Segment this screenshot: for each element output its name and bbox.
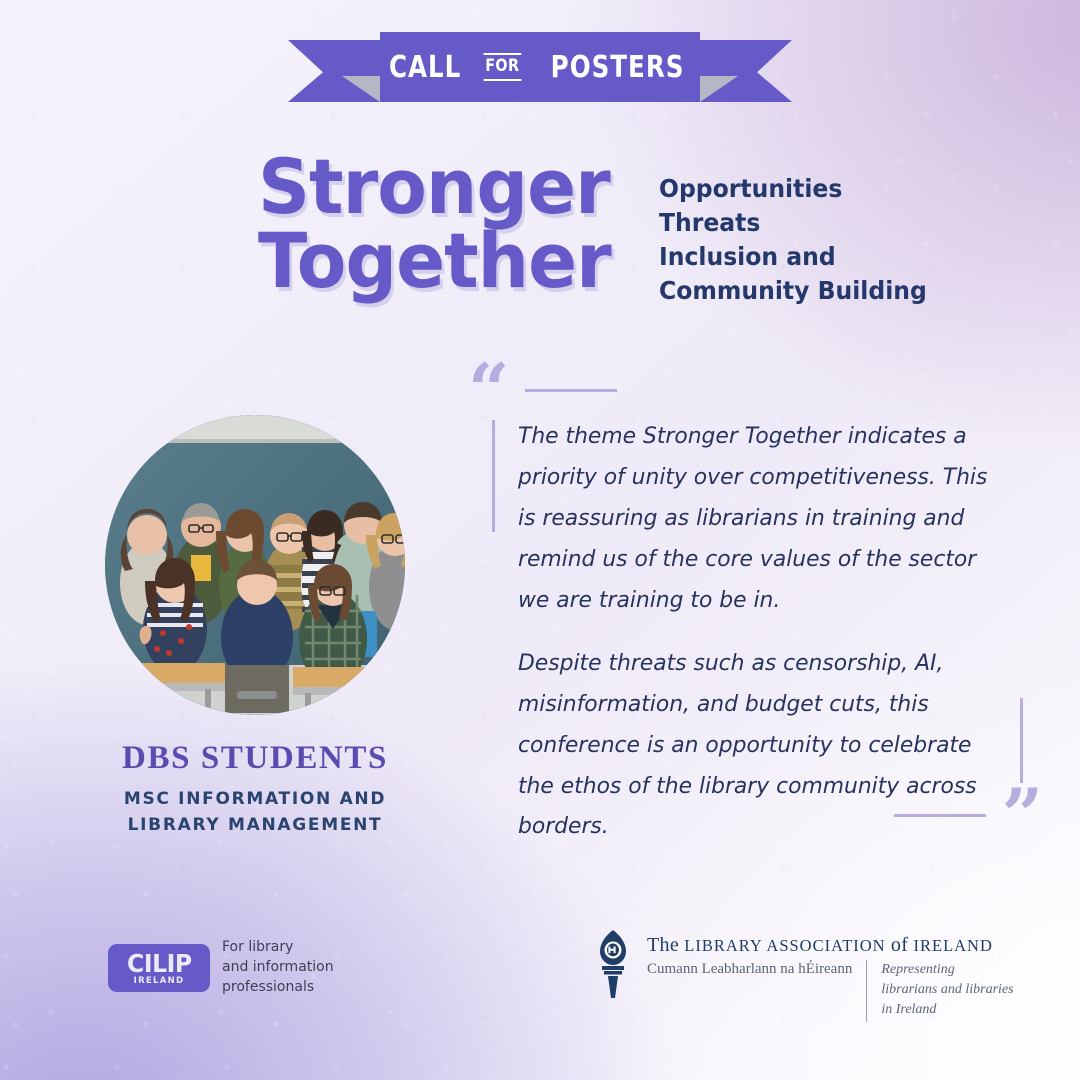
lai-subtitle-row: Cumann Leabharlann na hÉireann Represent…: [647, 960, 1014, 1022]
ribbon-word-call: CALL: [389, 50, 461, 85]
ribbon-tail-right: [700, 40, 792, 102]
cilip-badge: CILIP IRELAND: [108, 944, 210, 992]
credit-programme: MSC INFORMATION AND LIBRARY MANAGEMENT: [40, 786, 470, 839]
group-photo-illustration: [105, 415, 405, 715]
cilip-tagline-line-1: For library: [222, 938, 334, 958]
quote-text: The theme Stronger Together indicates a …: [518, 416, 1018, 847]
group-photo: [105, 415, 405, 715]
ribbon-for-label: FOR: [484, 57, 522, 77]
page-title: Stronger Together: [258, 150, 611, 299]
lai-divider: [866, 960, 867, 1022]
headline-group: Stronger Together Opportunities Threats …: [258, 150, 944, 308]
close-quote-icon: ”: [1002, 793, 1043, 838]
credit-programme-line-1: MSC INFORMATION AND: [40, 786, 470, 812]
library-association-ireland-logo: The LIBRARY ASSOCIATION of IRELAND Cuman…: [592, 928, 1014, 1022]
cilip-region-label: IRELAND: [134, 977, 185, 986]
credit-name: DBS STUDENTS: [40, 740, 470, 777]
lai-representing: Representing librarians and libraries in…: [881, 960, 1013, 1020]
lai-irish-name: Cumann Leabharlann na hÉireann: [647, 960, 852, 978]
lai-representing-line-2: librarians and libraries: [881, 980, 1013, 1000]
photo-credit: DBS STUDENTS MSC INFORMATION AND LIBRARY…: [40, 740, 470, 839]
cilip-tagline-line-3: professionals: [222, 978, 334, 998]
title-line-2: Together: [258, 224, 611, 298]
lai-title: The LIBRARY ASSOCIATION of IRELAND: [647, 934, 1014, 957]
lai-title-ireland: IRELAND: [913, 936, 992, 955]
subtitle-line-opportunities: Opportunities: [659, 172, 927, 206]
lai-representing-line-1: Representing: [881, 960, 1013, 980]
lai-title-library: LIBRARY: [684, 936, 762, 955]
lai-title-the: The: [647, 934, 684, 956]
lai-title-of: of: [886, 934, 914, 956]
cilip-wordmark: CILIP: [127, 951, 192, 976]
ribbon-tail-left: [288, 40, 380, 102]
lai-representing-line-3: in Ireland: [881, 1000, 1013, 1020]
poster-canvas: CALL FOR POSTERS Stronger Together Oppor…: [0, 0, 1080, 1080]
subtitle-line-threats: Threats: [659, 206, 927, 240]
ribbon-word-posters: POSTERS: [551, 50, 685, 85]
ribbon-for-rule-top: [484, 53, 522, 56]
subtitle-line-community: Community Building: [659, 274, 927, 308]
ribbon-for-rule-bottom: [484, 79, 522, 82]
quote-close-group: ”: [894, 793, 1043, 838]
quote-rule-top: [525, 389, 617, 392]
quote-paragraph-1: The theme Stronger Together indicates a …: [518, 416, 1003, 621]
cilip-tagline: For library and information professional…: [222, 938, 334, 998]
credit-programme-line-2: LIBRARY MANAGEMENT: [40, 812, 470, 838]
call-for-posters-ribbon: CALL FOR POSTERS: [380, 32, 700, 124]
quote-rule-bottom: [894, 814, 986, 817]
subtitle-line-inclusion: Inclusion and: [659, 240, 927, 274]
quote-block: “ The theme Stronger Together indicates …: [468, 368, 1043, 838]
ribbon-body: CALL FOR POSTERS: [380, 32, 700, 102]
cilip-tagline-line-2: and information: [222, 958, 334, 978]
lai-emblem-icon: [592, 928, 634, 1000]
quote-open-group: “: [468, 368, 617, 413]
lai-title-association: ASSOCIATION: [762, 936, 885, 955]
lai-text-block: The LIBRARY ASSOCIATION of IRELAND Cuman…: [647, 928, 1014, 1022]
open-quote-icon: “: [468, 368, 509, 413]
cilip-logo: CILIP IRELAND For library and informatio…: [108, 938, 334, 998]
theme-subtitle-list: Opportunities Threats Inclusion and Comm…: [659, 172, 927, 308]
quote-accent-line-left: [492, 420, 495, 532]
ribbon-word-for: FOR: [484, 53, 522, 82]
quote-accent-line-right: [1020, 698, 1023, 783]
